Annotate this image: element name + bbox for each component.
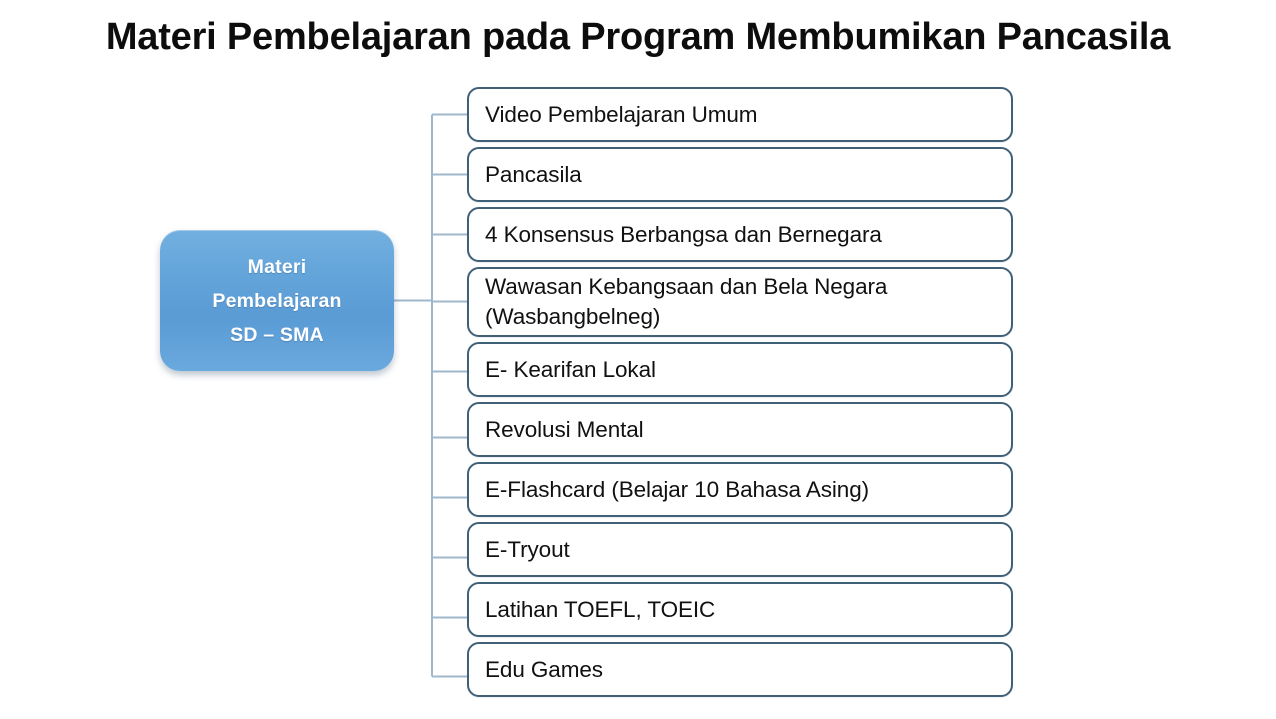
branch-label: E-Flashcard (Belajar 10 Bahasa Asing) [485,475,869,505]
branch-box-5[interactable]: E- Kearifan Lokal [467,342,1013,397]
branch-box-1[interactable]: Video Pembelajaran Umum [467,87,1013,142]
branch-box-7[interactable]: E-Flashcard (Belajar 10 Bahasa Asing) [467,462,1013,517]
branch-label: 4 Konsensus Berbangsa dan Bernegara [485,220,882,250]
root-node[interactable]: Materi Pembelajaran SD – SMA [160,230,394,371]
branch-label: Revolusi Mental [485,415,644,445]
branch-label: Pancasila [485,160,582,190]
branch-label: Wawasan Kebangsaan dan Bela Negara (Wasb… [485,272,995,332]
slide-canvas: Materi Pembelajaran pada Program Membumi… [0,0,1276,719]
branch-label: Video Pembelajaran Umum [485,100,757,130]
branch-box-8[interactable]: E-Tryout [467,522,1013,577]
branch-box-10[interactable]: Edu Games [467,642,1013,697]
branch-box-2[interactable]: Pancasila [467,147,1013,202]
branch-label: Latihan TOEFL, TOEIC [485,595,715,625]
branch-box-9[interactable]: Latihan TOEFL, TOEIC [467,582,1013,637]
branch-box-4[interactable]: Wawasan Kebangsaan dan Bela Negara (Wasb… [467,267,1013,337]
branch-box-6[interactable]: Revolusi Mental [467,402,1013,457]
branch-box-3[interactable]: 4 Konsensus Berbangsa dan Bernegara [467,207,1013,262]
root-node-label: Materi Pembelajaran SD – SMA [212,250,341,352]
branch-list: Video Pembelajaran Umum Pancasila 4 Kons… [467,87,1013,702]
page-title: Materi Pembelajaran pada Program Membumi… [0,16,1276,59]
branch-label: E- Kearifan Lokal [485,355,656,385]
branch-label: E-Tryout [485,535,570,565]
branch-label: Edu Games [485,655,603,685]
